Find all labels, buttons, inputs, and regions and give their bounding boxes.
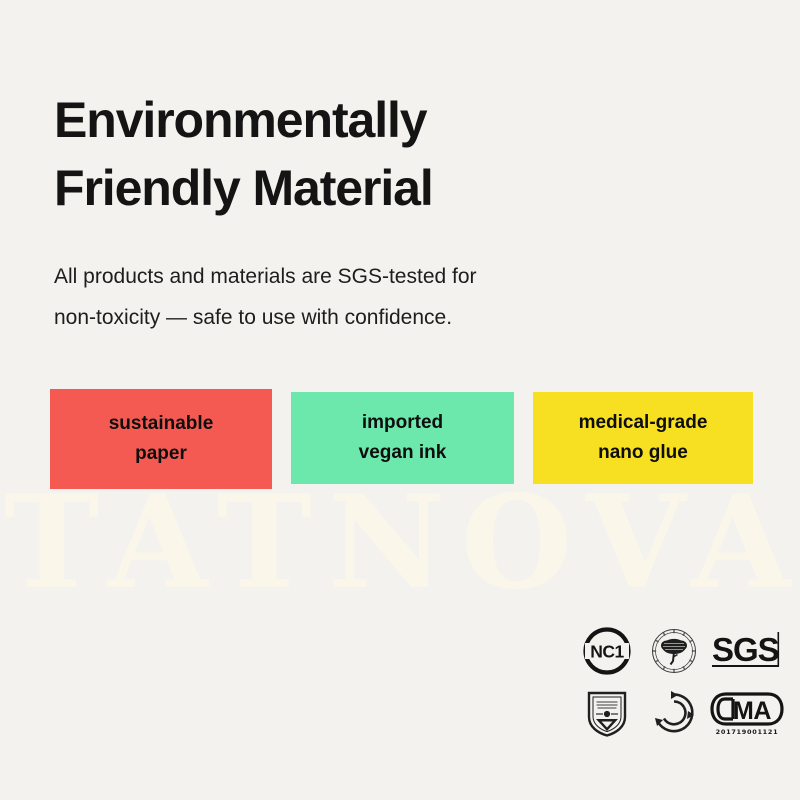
recycle-arrows-icon	[649, 688, 699, 738]
certification-badge-grid: NC1	[573, 620, 787, 744]
material-chip-medical-grade-nano-glue: medical-grade nano glue	[533, 392, 753, 484]
material-chip-group: sustainable paper imported vegan ink med…	[50, 389, 760, 489]
svg-text:NC1: NC1	[590, 642, 624, 662]
svg-text:SGS: SGS	[712, 631, 779, 668]
page-description-line-2: non-toxicity — safe to use with confiden…	[54, 297, 654, 338]
page-description: All products and materials are SGS-teste…	[54, 256, 654, 338]
material-chip-line-2: nano glue	[598, 438, 688, 468]
certification-badge-cma: MA 201719001121	[707, 682, 787, 744]
page-description-line-1: All products and materials are SGS-teste…	[54, 256, 654, 297]
certification-badge-nc1: NC1	[573, 620, 640, 682]
cma-metrology-mark-icon: MA 201719001121	[710, 691, 784, 736]
material-chip-line-2: vegan ink	[359, 438, 447, 468]
page-title: Environmentally Friendly Material	[54, 86, 674, 222]
certification-badge-recycle	[640, 682, 707, 744]
tree-seal-icon	[649, 626, 699, 676]
cma-certificate-number: 201719001121	[716, 728, 779, 736]
material-chip-imported-vegan-ink: imported vegan ink	[291, 392, 514, 484]
page-title-line-2: Friendly Material	[54, 154, 674, 222]
poster-canvas: TATNOVA Environmentally Friendly Materia…	[0, 0, 800, 800]
material-chip-line-2: paper	[135, 439, 187, 469]
certification-badge-sgs: SGS	[707, 620, 787, 682]
page-title-line-1: Environmentally	[54, 86, 674, 154]
svg-text:MA: MA	[733, 697, 771, 725]
certification-badge-tree-seal	[640, 620, 707, 682]
material-chip-sustainable-paper: sustainable paper	[50, 389, 272, 489]
material-chip-line-1: imported	[362, 408, 443, 438]
shield-quality-mark-icon	[584, 688, 630, 738]
certification-badge-shield	[573, 682, 640, 744]
material-chip-line-1: sustainable	[109, 409, 214, 439]
material-chip-line-1: medical-grade	[579, 408, 708, 438]
brand-watermark: TATNOVA	[4, 478, 796, 608]
sgs-wordmark-icon: SGS	[710, 628, 784, 674]
nc1-circle-mark-icon: NC1	[582, 626, 632, 676]
